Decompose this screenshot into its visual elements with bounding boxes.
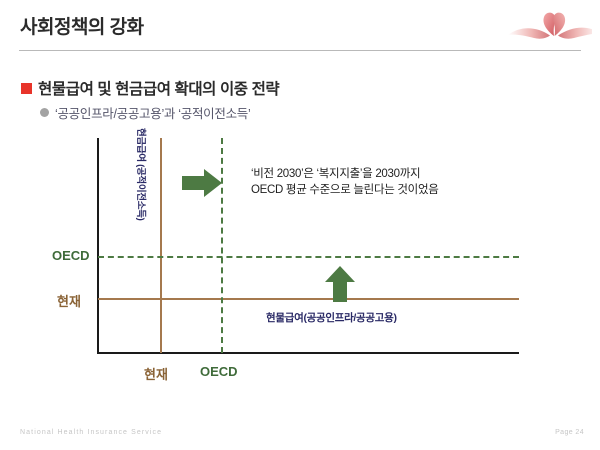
arrow-right-icon <box>182 168 222 198</box>
y-tick-label-oecd: OECD <box>52 248 90 263</box>
quadrant-chart: OECD 현재 현재 OECD 현금급여 (공적이전소득) 현물급여(공공인프라… <box>0 0 600 450</box>
x-axis-title: 현물급여(공공인프라/공공고용) <box>266 310 397 325</box>
chart-y-axis <box>97 138 99 354</box>
y-axis-title: 현금급여 (공적이전소득) <box>135 128 149 248</box>
annotation-line-1: ‘비전 2030’은 ‘복지지출’을 2030까지 <box>251 166 439 182</box>
reference-line-current-vertical <box>160 138 162 353</box>
arrow-up-icon <box>325 266 355 302</box>
chart-annotation-note: ‘비전 2030’은 ‘복지지출’을 2030까지 OECD 평균 수준으로 늘… <box>251 166 439 198</box>
x-tick-label-oecd: OECD <box>200 364 238 379</box>
annotation-line-2: OECD 평균 수준으로 늘린다는 것이었음 <box>251 182 439 198</box>
footer-brand-label: National Health Insurance Service <box>20 429 162 436</box>
footer-page-number: Page 24 <box>555 429 584 436</box>
reference-line-oecd-horizontal <box>98 256 519 258</box>
y-tick-label-current: 현재 <box>57 291 81 310</box>
x-tick-label-current: 현재 <box>144 364 168 383</box>
